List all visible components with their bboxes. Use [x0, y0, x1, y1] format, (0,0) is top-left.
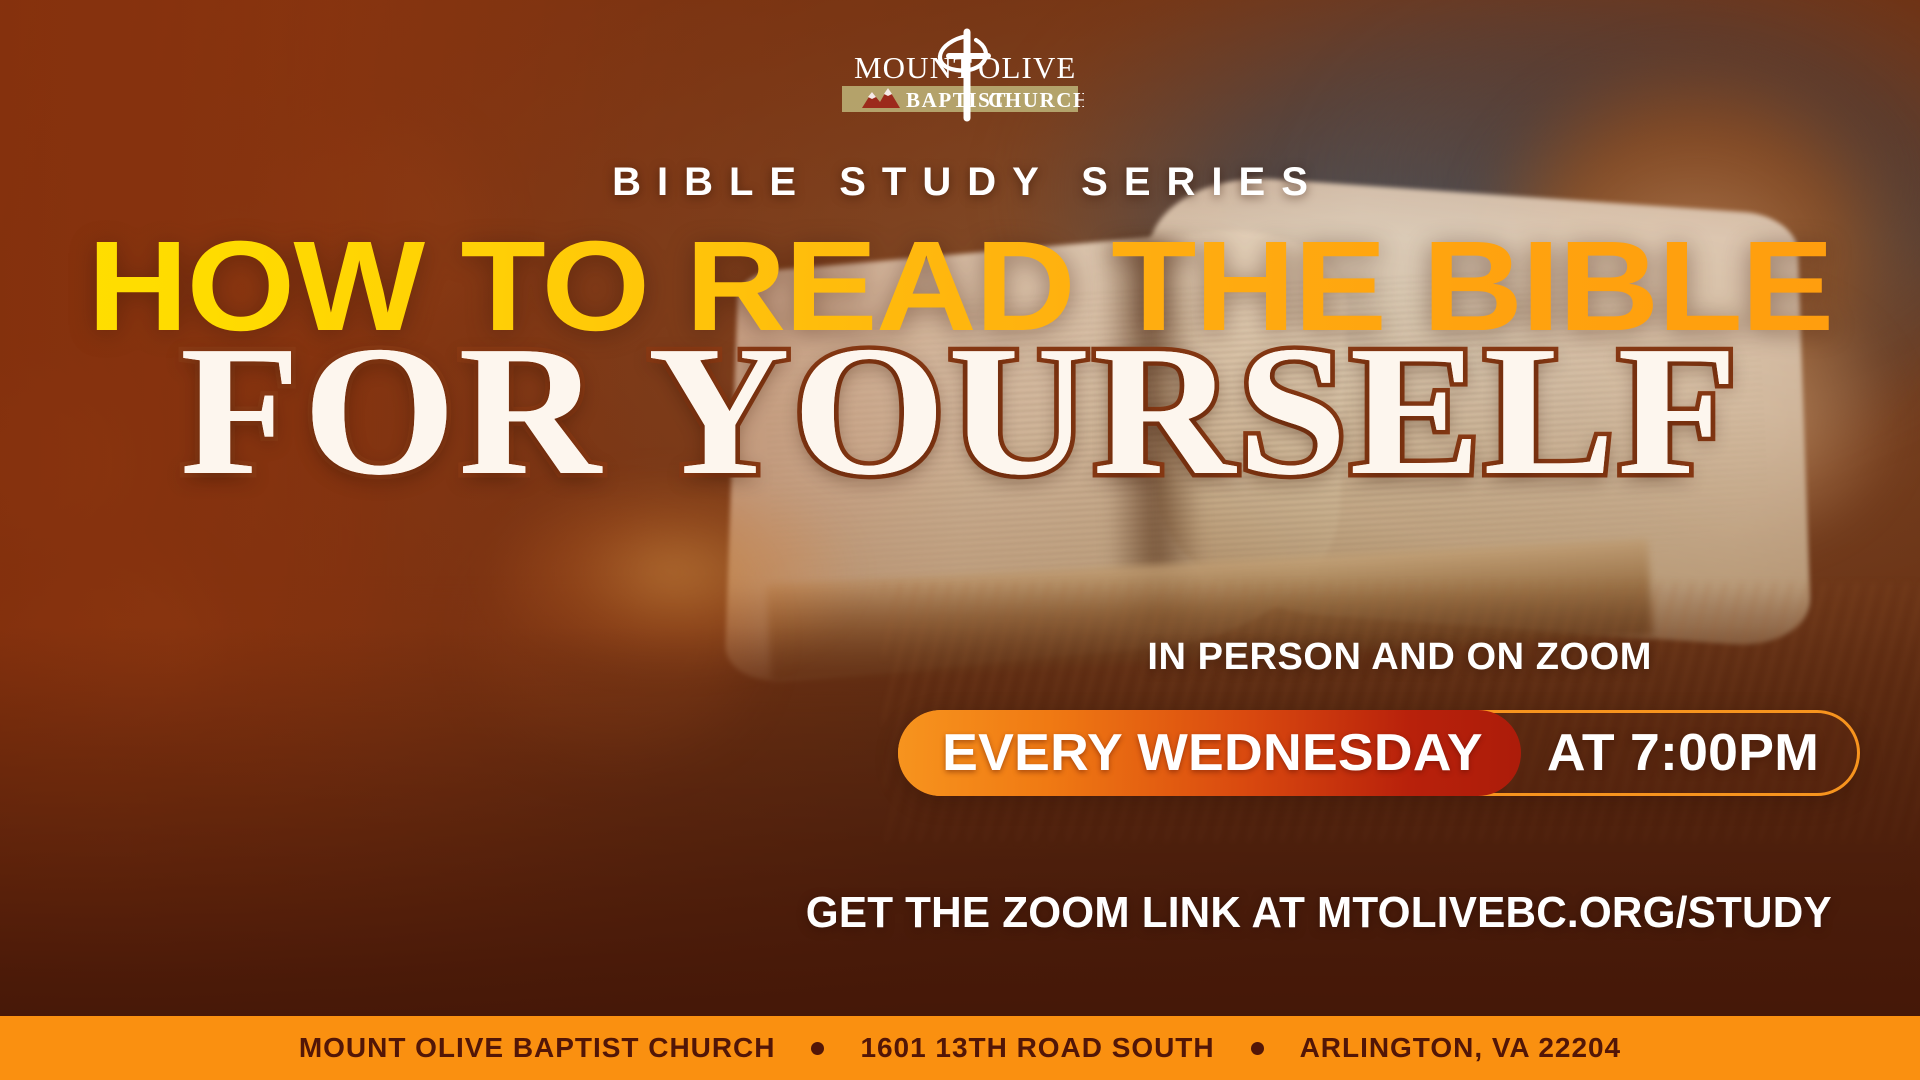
schedule-pill-day-capsule: EVERY WEDNESDAY	[898, 710, 1521, 796]
logo-text-mount: MOUNT	[854, 50, 973, 85]
series-eyebrow: BIBLE STUDY SERIES	[0, 160, 1920, 205]
logo-text-olive: OLIVE	[978, 50, 1076, 85]
zoom-link-cta[interactable]: GET THE ZOOM LINK AT MTOLIVEBC.ORG/STUDY	[806, 888, 1832, 938]
bullet-separator-icon	[1251, 1042, 1264, 1055]
schedule-time-label: AT 7:00PM	[1516, 723, 1862, 783]
headline-secondary-stroke: FOR YOURSELF	[0, 318, 1920, 504]
logo-text-church: CHURCH	[988, 88, 1084, 112]
schedule-day-label: EVERY WEDNESDAY	[942, 723, 1483, 783]
church-logo-svg: MOUNT OLIVE BAPTIST CHURCH	[836, 26, 1084, 122]
attendance-subtitle: IN PERSON AND ON ZOOM	[1147, 636, 1652, 679]
footer-organization: MOUNT OLIVE BAPTIST CHURCH	[299, 1032, 776, 1064]
footer-street-address: 1601 13TH ROAD SOUTH	[860, 1032, 1214, 1064]
address-footer-bar: MOUNT OLIVE BAPTIST CHURCH 1601 13TH ROA…	[0, 1016, 1920, 1080]
flyer-content: MOUNT OLIVE BAPTIST CHURCH BIBLE STUDY S…	[0, 0, 1920, 1080]
church-logo: MOUNT OLIVE BAPTIST CHURCH	[836, 26, 1084, 122]
schedule-pill: EVERY WEDNESDAY AT 7:00PM	[898, 710, 1860, 796]
bullet-separator-icon	[811, 1042, 824, 1055]
footer-city-state-zip: ARLINGTON, VA 22204	[1300, 1032, 1622, 1064]
flyer-canvas: MOUNT OLIVE BAPTIST CHURCH BIBLE STUDY S…	[0, 0, 1920, 1080]
